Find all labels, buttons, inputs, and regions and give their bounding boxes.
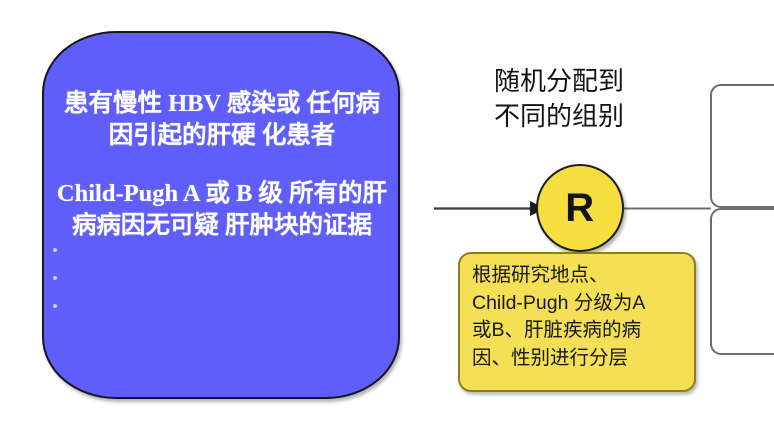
- bullet-dot: [53, 304, 57, 308]
- treatment-arm-upper-box: [710, 84, 774, 208]
- bullet-dot: [53, 276, 57, 280]
- criteria-population: 患有慢性 HBV 感染或 任何病因引起的肝硬 化患者: [56, 88, 388, 152]
- randomization-node-letter: R: [565, 188, 594, 228]
- treatment-arm-lower-box: [710, 208, 774, 355]
- arrow-eligibility-to-randomization: [434, 201, 545, 216]
- randomization-label: 随机分配到 不同的组别: [494, 64, 704, 134]
- stratification-text: 根据研究地点、 Child-Pugh 分级为A 或B、肝脏疾病的病 因、性别进行…: [472, 262, 688, 373]
- bullet-dot: [53, 248, 57, 252]
- randomization-node[interactable]: R: [536, 164, 624, 252]
- flow-diagram-canvas: 患有慢性 HBV 感染或 任何病因引起的肝硬 化患者 Child-Pugh A …: [0, 0, 774, 436]
- eligibility-criteria-text: 患有慢性 HBV 感染或 任何病因引起的肝硬 化患者 Child-Pugh A …: [56, 88, 388, 241]
- criteria-spacer: [56, 152, 388, 178]
- criteria-severity: Child-Pugh A 或 B 级 所有的肝病病因无可疑 肝肿块的证据: [56, 178, 388, 242]
- criteria-bullet-list: [53, 248, 65, 332]
